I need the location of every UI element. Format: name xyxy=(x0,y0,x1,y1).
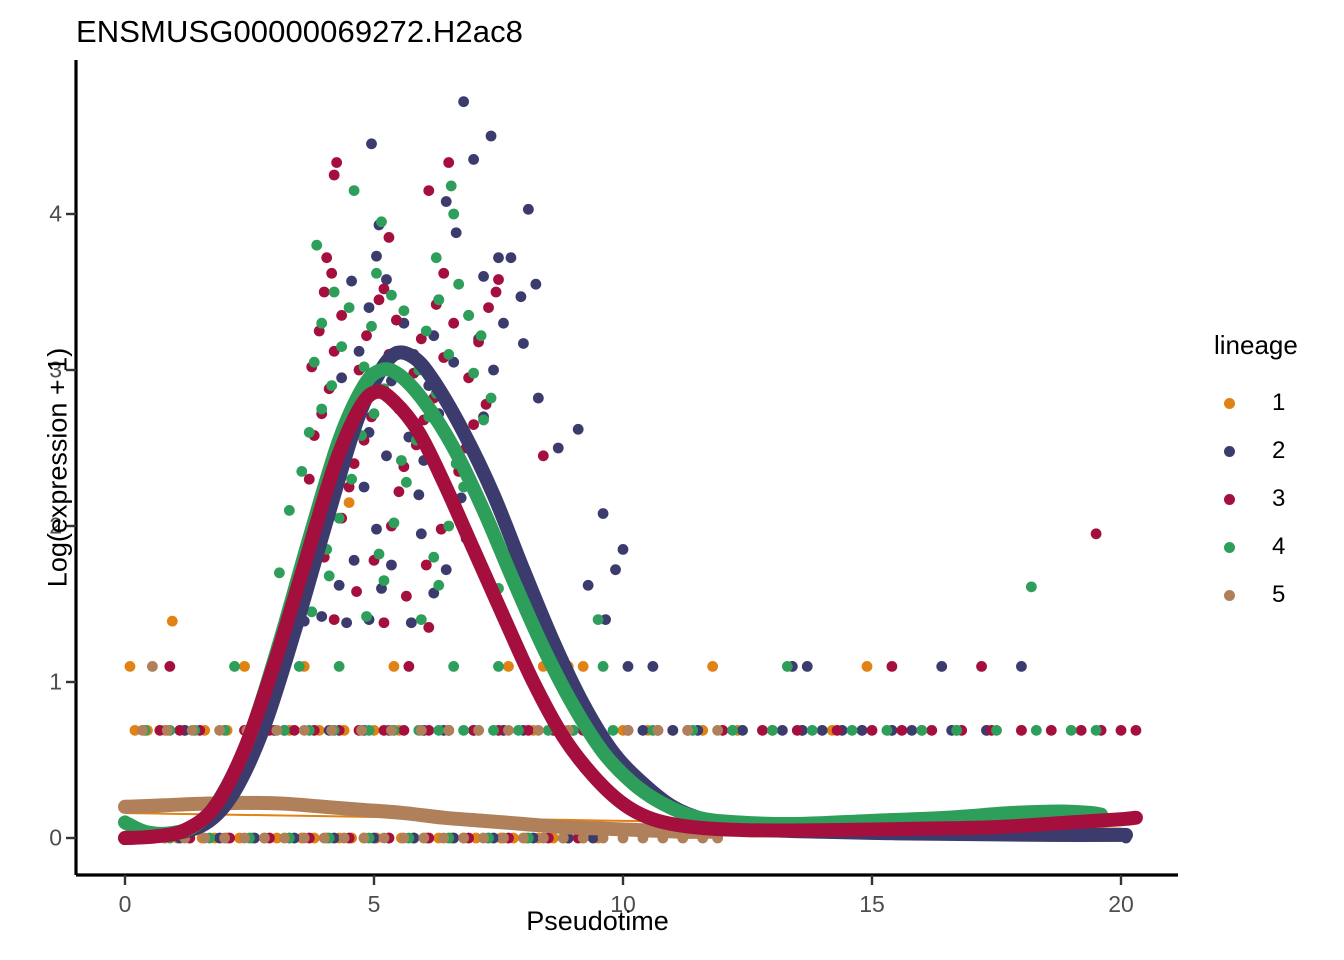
legend: lineage 12345 xyxy=(1212,330,1344,619)
legend-dot-icon xyxy=(1212,590,1246,601)
x-axis-title: Pseudotime xyxy=(0,906,1195,937)
legend-label: 4 xyxy=(1272,533,1285,561)
scatter-points-lineage-4 xyxy=(137,181,1101,844)
legend-swatch xyxy=(1224,398,1235,409)
legend-item-4[interactable]: 4 xyxy=(1212,523,1344,571)
y-tick-label-0: 0 xyxy=(20,825,62,852)
legend-dot-icon xyxy=(1212,446,1246,457)
scatter-plot-canvas xyxy=(0,0,1344,960)
legend-label: 1 xyxy=(1272,389,1285,417)
legend-item-1[interactable]: 1 xyxy=(1212,379,1344,427)
scatter-points-lineage-3 xyxy=(145,157,1142,843)
legend-item-5[interactable]: 5 xyxy=(1212,571,1344,619)
legend-swatch xyxy=(1224,446,1235,457)
legend-label: 2 xyxy=(1272,437,1285,465)
legend-label: 5 xyxy=(1272,581,1285,609)
legend-swatch xyxy=(1224,590,1235,601)
legend-dot-icon xyxy=(1212,398,1246,409)
fitted-curve-lineage-2 xyxy=(125,352,1126,838)
plot-root: ENSMUSG00000069272.H2ac8 05101520 01234 … xyxy=(0,0,1344,960)
fitted-curve-lineage-4 xyxy=(125,369,1101,834)
legend-label: 3 xyxy=(1272,485,1285,513)
legend-dot-icon xyxy=(1212,494,1246,505)
legend-dot-icon xyxy=(1212,542,1246,553)
legend-swatch xyxy=(1224,542,1235,553)
legend-items: 12345 xyxy=(1212,379,1344,619)
legend-title: lineage xyxy=(1212,330,1344,361)
plot-panel xyxy=(125,96,1142,843)
legend-swatch xyxy=(1224,494,1235,505)
legend-item-2[interactable]: 2 xyxy=(1212,427,1344,475)
y-axis-title: Log(expression + 1) xyxy=(43,188,74,748)
legend-item-3[interactable]: 3 xyxy=(1212,475,1344,523)
